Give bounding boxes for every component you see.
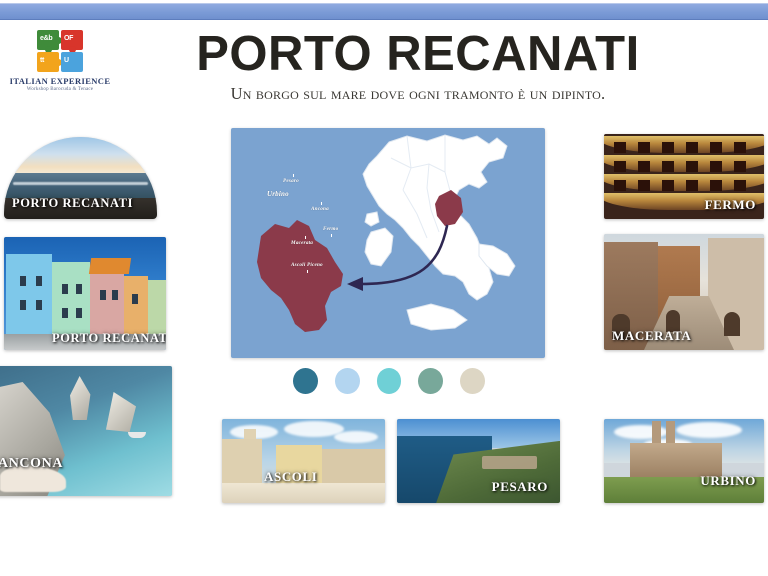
puzzle-glyph-orange: tt xyxy=(40,57,44,64)
photo-caption: MACERATA xyxy=(612,328,691,344)
poster-page: e&b OF tt U ITALIAN EXPERIENCE Workshop … xyxy=(0,0,768,576)
puzzle-glyph-blue: U xyxy=(64,57,69,64)
photo-card-ascoli[interactable]: ASCOLI xyxy=(222,419,385,503)
map-pin-pesaro xyxy=(293,174,294,177)
photo-scene-due-sorelle-cliffs xyxy=(0,366,172,496)
corsica-shape xyxy=(365,212,379,226)
color-palette xyxy=(293,368,485,394)
map-label-pesaro: Pesaro xyxy=(283,178,299,184)
brand-tagline: Workshop Barocuda & Tenace xyxy=(27,87,93,92)
map-pin-fermo xyxy=(331,234,332,237)
map-label-ascoli-piceno: Ascoli Piceno xyxy=(291,262,323,268)
map-pin-ancona xyxy=(321,202,322,205)
puzzle-piece-orange: tt xyxy=(37,52,59,72)
page-title: PORTO RECANATI xyxy=(118,26,718,82)
brand-logo: e&b OF tt U ITALIAN EXPERIENCE Workshop … xyxy=(12,30,108,108)
sardinia-shape xyxy=(365,228,393,266)
photo-scene-piazza-del-popolo xyxy=(222,419,385,503)
map-label-urbino: Urbino xyxy=(267,190,289,198)
photo-card-macerata[interactable]: MACERATA xyxy=(604,234,764,350)
photo-caption: PORTO RECANATI xyxy=(12,196,133,211)
swatch-light-blue[interactable] xyxy=(335,368,360,394)
photo-card-pesaro[interactable]: PESARO xyxy=(397,419,560,503)
photo-caption: URBINO xyxy=(700,473,756,489)
brand-name: ITALIAN EXPERIENCE xyxy=(10,76,111,86)
photo-card-porto-recanati-beach[interactable]: PORTO RECANATI xyxy=(4,137,157,219)
map-label-ancona: Ancona xyxy=(311,206,329,212)
photo-card-ancona[interactable]: ANCONA xyxy=(0,366,172,496)
top-accent-bar xyxy=(0,3,768,20)
swatch-sand-beige[interactable] xyxy=(460,368,485,394)
photo-card-urbino[interactable]: URBINO xyxy=(604,419,764,503)
map-pin-ascoli xyxy=(307,270,308,273)
title-block: PORTO RECANATI Un borgo sul mare dove og… xyxy=(118,26,718,104)
map-label-fermo: Fermo xyxy=(323,226,338,232)
photo-scene-ducal-palace xyxy=(604,419,764,503)
map-label-macerata: Macerata xyxy=(291,240,313,246)
swatch-deep-teal[interactable] xyxy=(293,368,318,394)
sicily-shape xyxy=(407,304,467,330)
photo-caption: ASCOLI xyxy=(264,469,317,485)
poster-header: e&b OF tt U ITALIAN EXPERIENCE Workshop … xyxy=(0,22,768,134)
photo-caption: PORTO RECANATI xyxy=(52,331,166,346)
photo-card-fermo[interactable]: FERMO xyxy=(604,134,764,219)
puzzle-glyph-red: OF xyxy=(64,35,73,42)
photo-caption: FERMO xyxy=(705,197,756,213)
puzzle-logo-icon: e&b OF tt U xyxy=(37,30,83,72)
page-subtitle: Un borgo sul mare dove ogni tramonto è u… xyxy=(118,84,718,104)
puzzle-piece-red: OF xyxy=(61,30,83,50)
swatch-sage-green[interactable] xyxy=(418,368,443,394)
italy-mainland-shape xyxy=(363,135,507,300)
map-pin-macerata xyxy=(305,236,306,239)
swatch-turquoise[interactable] xyxy=(377,368,402,394)
photo-caption: PESARO xyxy=(492,479,548,495)
puzzle-piece-green: e&b xyxy=(37,30,59,50)
italy-map-panel[interactable]: Pesaro Urbino Ancona Fermo Macerata Asco… xyxy=(231,128,545,358)
italy-map-svg xyxy=(231,128,545,358)
photo-caption: ANCONA xyxy=(0,456,63,472)
arrow-head xyxy=(347,277,363,291)
puzzle-piece-blue: U xyxy=(61,52,83,72)
puzzle-glyph-green: e&b xyxy=(40,35,52,42)
photo-card-porto-recanati-houses[interactable]: PORTO RECANATI xyxy=(4,237,166,350)
